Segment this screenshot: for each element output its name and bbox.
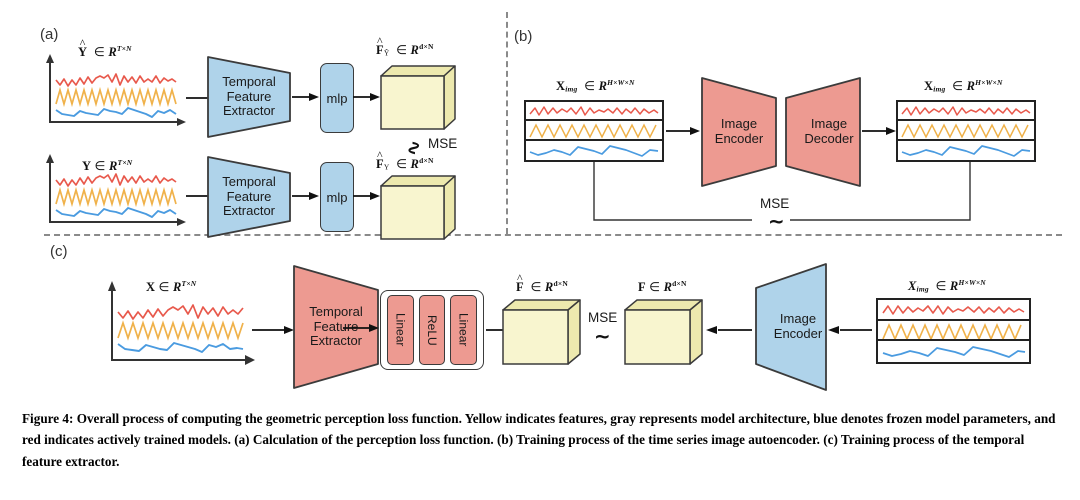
panel-b-arrow-to-encoder [666,125,702,137]
head-cell-label: ReLU [425,315,439,346]
panel-a-row1-mlp-block[interactable]: mlp [320,63,354,133]
panel-a-row1-temporal-feature-extractor[interactable]: Temporal Feature Extractor [206,55,292,139]
panel-c-pred-feature-label: ^F ∈ Rd×N [516,279,568,295]
image-band-red [878,300,1029,321]
image-band-orange [878,321,1029,342]
panel-a-row2-arrow-to-feature [353,190,381,202]
panel-c-loss-label: MSE [588,310,617,325]
panel-b-output-image-strip [896,100,1036,162]
series-orange-line [56,190,176,204]
panel-b-output-label: Ximg ∈ RH×W×N [924,78,1003,94]
divider-vertical [506,12,508,234]
head-cell-relu[interactable]: ReLU [419,295,446,365]
panel-c-target-feature-box [622,296,706,370]
panel-c-arrow-to-head [343,322,381,334]
panel-c-target-feature-label: F ∈ Rd×N [638,279,687,295]
panel-a-loss-label: MSE [428,136,457,151]
panel-a-row1-arrow-to-mlp [292,91,320,103]
panel-b-input-label: Ximg ∈ RH×W×N [556,78,635,94]
panel-a-row1-feature-label: ^FŶ ∈ Rd×N [376,42,434,58]
series-orange-line [118,323,243,338]
panel-a-row2-feature-box [378,172,458,244]
divider-horizontal [44,234,1062,236]
image-band-blue [878,341,1029,362]
series-orange-line [56,90,176,104]
series-red-line [56,174,176,186]
image-band-blue [526,141,662,160]
panel-a-row1-feature-box [378,62,458,134]
panel-a-row2-temporal-feature-extractor[interactable]: Temporal Feature Extractor [206,155,292,239]
series-red-line [56,74,176,86]
image-band-blue [898,141,1034,160]
mlp-label: mlp [327,91,348,106]
image-band-red [526,102,662,121]
image-band-red [898,102,1034,121]
head-cell-label: Linear [457,313,471,346]
panel-a-loss-squiggle-icon: ∿ [402,140,426,157]
panel-c-letter: (c) [50,243,68,260]
image-band-orange [898,121,1034,140]
panel-c-pred-feature-box [500,296,584,370]
panel-b-letter: (b) [514,28,532,45]
head-cell-linear-1[interactable]: Linear [387,295,414,365]
mlp-label: mlp [327,190,348,205]
panel-a-row2-arrow-to-mlp [292,190,320,202]
panel-a-letter: (a) [40,26,58,43]
panel-c-image-encoder[interactable]: Image Encoder [748,262,828,392]
panel-c-image-label: Ximg ∈ RH×W×N [908,278,986,294]
panel-c-input-image-strip [876,298,1031,364]
head-cell-label: Linear [393,313,407,346]
series-red-line [118,305,243,319]
figure-root: (a) ^Y ∈ RT×N Temporal Feature Extractor [0,0,1080,500]
series-blue-line [118,343,243,352]
panel-b-input-image-strip [524,100,664,162]
panel-c-mlp-head[interactable]: Linear ReLU Linear [380,290,484,370]
panel-c-arrow-image-to-encoder [828,324,872,336]
panel-b-loss-squiggle-icon: ∼ [768,209,785,233]
panel-a-row2-mlp-block[interactable]: mlp [320,162,354,232]
image-band-orange [526,121,662,140]
panel-c-arrow-to-extractor [252,324,296,336]
series-blue-line [56,108,176,117]
figure-caption: Figure 4: Overall process of computing t… [22,408,1062,472]
panel-b-arrow-to-output [862,125,898,137]
panel-a-row1-arrow-to-feature [353,91,381,103]
panel-c-timeseries-plot [100,278,255,370]
panel-c-arrow-from-encoder [706,324,752,336]
series-blue-line [56,208,176,217]
head-cell-linear-2[interactable]: Linear [450,295,477,365]
panel-a-row2-feature-label: ^FY ∈ Rd×N [376,156,434,172]
panel-a-row2-timeseries-plot [36,152,186,230]
panel-c-loss-squiggle-icon: ∼ [594,324,611,348]
panel-a-row1-timeseries-plot [36,52,186,130]
